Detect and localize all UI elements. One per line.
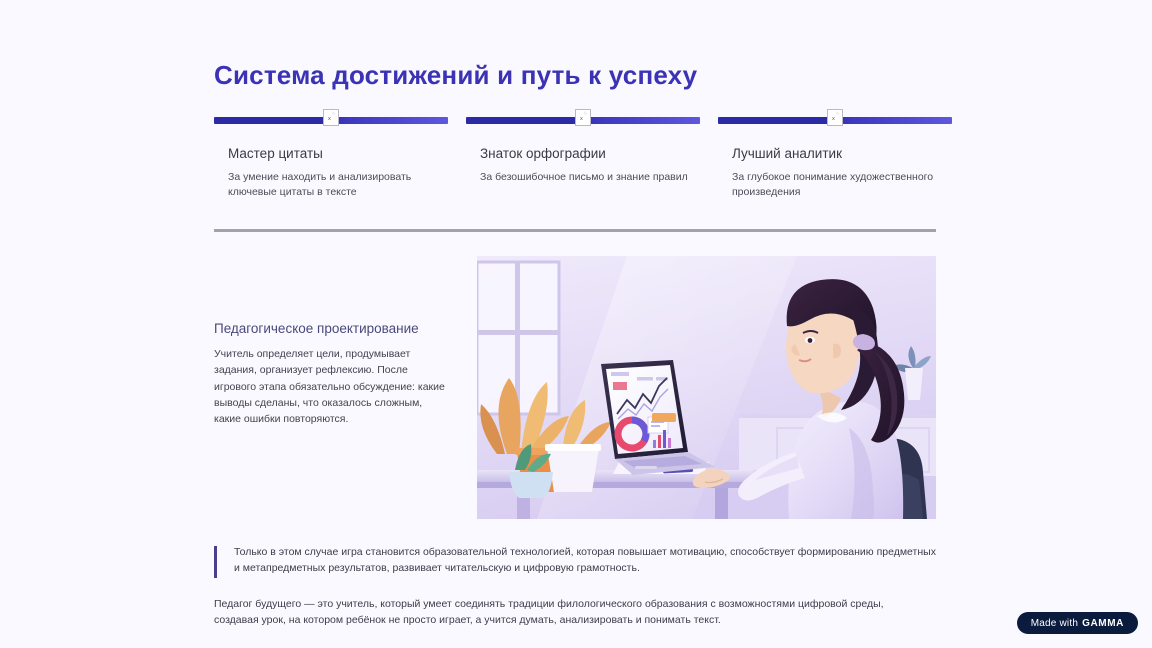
svg-text:x: x [580, 116, 583, 122]
achievement-card[interactable]: x Знаток орфографии За безошибочное пись… [466, 117, 700, 200]
quote-accent-bar [214, 546, 217, 578]
quote-text: Только в этом случае игра становится обр… [234, 544, 936, 578]
achievement-description: За безошибочное письмо и знание правил [466, 170, 700, 185]
middle-section: Педагогическое проектирование Учитель оп… [214, 256, 936, 524]
card-accent-bar: x [214, 117, 448, 124]
achievement-card[interactable]: x Лучший аналитик За глубокое понимание … [718, 117, 952, 200]
badge-prefix: Made with [1031, 618, 1078, 629]
achievements-card-row: x Мастер цитаты За умение находить и ана… [214, 117, 936, 200]
broken-image-icon: x [827, 109, 843, 126]
made-with-gamma-badge[interactable]: Made with GAMMA [1017, 612, 1138, 634]
badge-brand: GAMMA [1082, 618, 1124, 629]
achievement-card[interactable]: x Мастер цитаты За умение находить и ана… [214, 117, 448, 200]
slide-content: Система достижений и путь к успеху x Мас… [214, 60, 936, 640]
quote-block: Только в этом случае игра становится обр… [214, 544, 936, 578]
section-heading: Педагогическое проектирование [214, 320, 452, 338]
achievement-title: Лучший аналитик [718, 146, 952, 163]
svg-text:x: x [832, 116, 835, 122]
pedagogical-design-block: Педагогическое проектирование Учитель оп… [214, 320, 452, 428]
closing-paragraph: Педагог будущего — это учитель, который … [214, 596, 924, 630]
achievement-description: За умение находить и анализировать ключе… [214, 170, 448, 200]
card-accent-bar: x [466, 117, 700, 124]
card-accent-bar: x [718, 117, 952, 124]
broken-image-icon: x [575, 109, 591, 126]
broken-image-icon: x [323, 109, 339, 126]
achievement-title: Мастер цитаты [214, 146, 448, 163]
section-body: Учитель определяет цели, продумывает зад… [214, 346, 452, 427]
svg-text:x: x [328, 116, 331, 122]
achievement-title: Знаток орфографии [466, 146, 700, 163]
achievement-description: За глубокое понимание художественного пр… [718, 170, 952, 200]
slide-canvas: Система достижений и путь к успеху x Мас… [0, 0, 1152, 648]
page-title: Система достижений и путь к успеху [214, 60, 936, 91]
section-divider [214, 229, 936, 232]
teacher-at-laptop-illustration [477, 256, 936, 519]
